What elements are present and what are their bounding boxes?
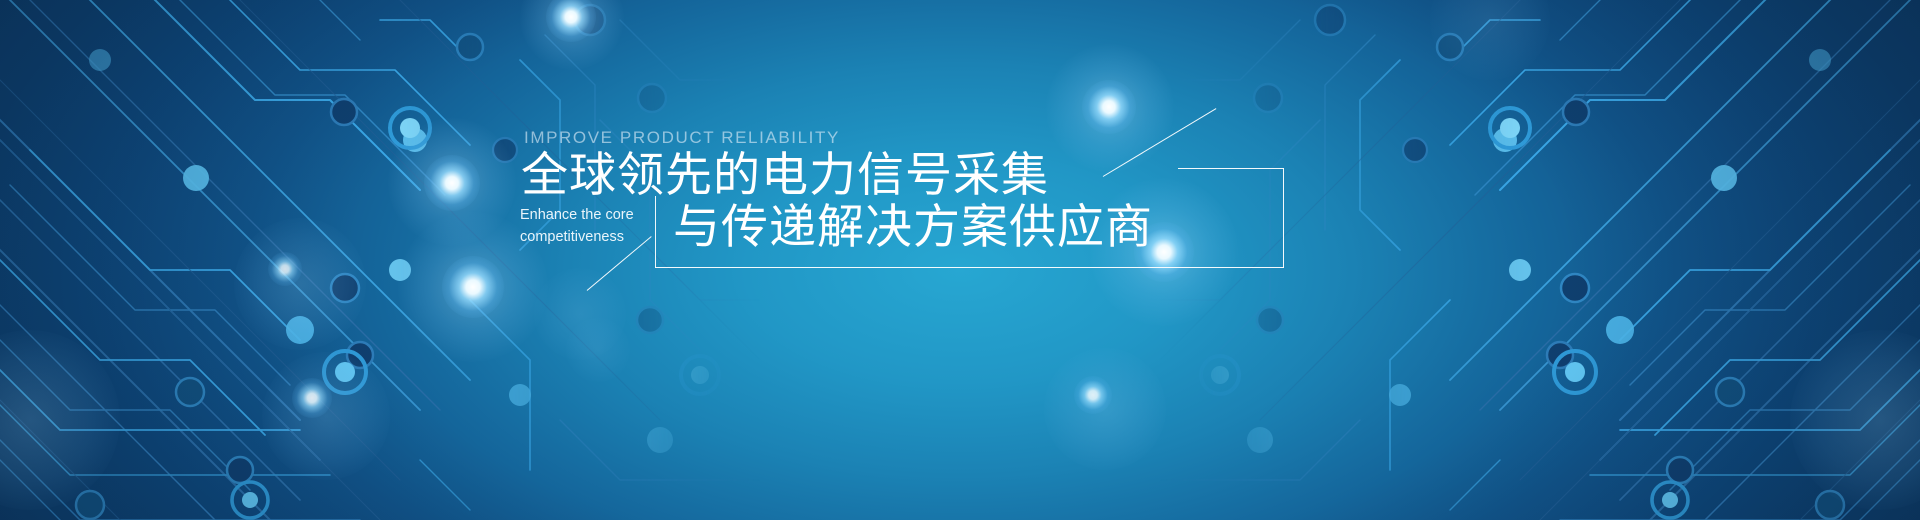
subtext-block: Enhance the core competitiveness (520, 204, 650, 248)
hero-banner: IMPROVE PRODUCT RELIABILITY 全球领先的电力信号采集 … (0, 0, 1920, 520)
frame-right-edge (1283, 168, 1284, 268)
subtext-line-2: competitiveness (520, 226, 650, 248)
banner-content: IMPROVE PRODUCT RELIABILITY 全球领先的电力信号采集 … (0, 0, 1920, 520)
eyebrow-text: IMPROVE PRODUCT RELIABILITY (524, 128, 840, 148)
vertical-divider (655, 196, 656, 268)
accent-stroke-top (1103, 108, 1217, 177)
frame-top-edge (1178, 168, 1284, 169)
headline-line-1: 全球领先的电力信号采集 (521, 148, 1049, 203)
headline-line-2: 与传递解决方案供应商 (673, 200, 1153, 255)
frame-bottom-edge (655, 267, 1284, 268)
subtext-line-1: Enhance the core (520, 204, 650, 226)
